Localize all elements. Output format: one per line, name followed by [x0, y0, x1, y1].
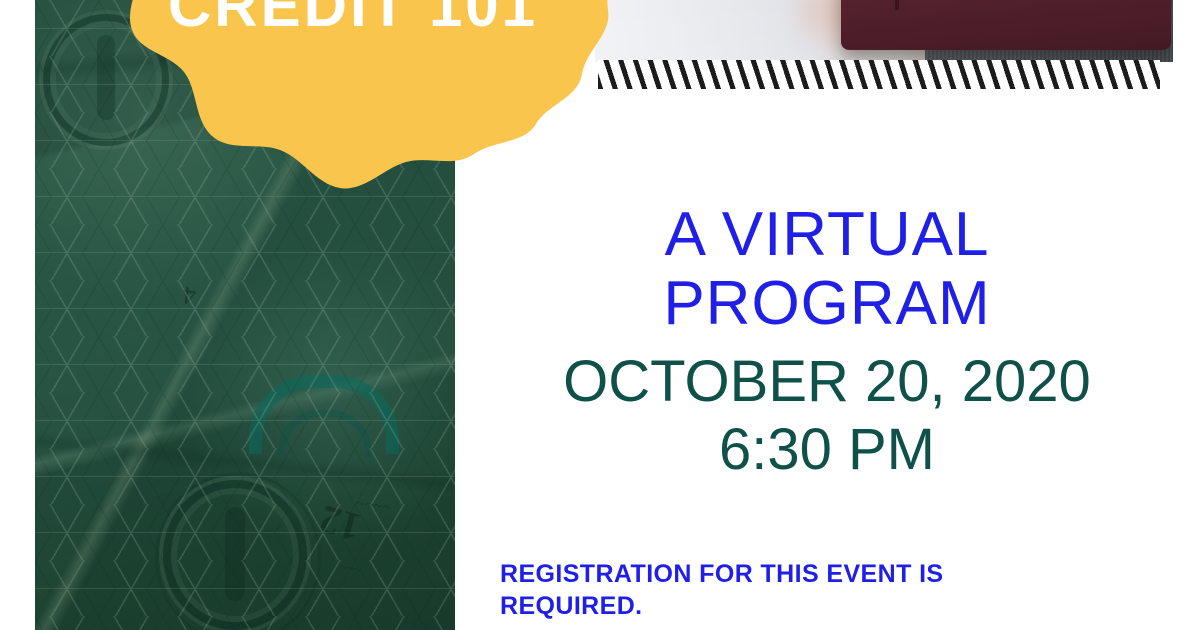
program-heading-line2: PROGRAM: [470, 269, 1184, 338]
text-content-column: A VIRTUAL PROGRAM OCTOBER 20, 2020 6:30 …: [470, 0, 1200, 630]
event-time: 6:30 PM: [470, 416, 1184, 484]
event-date: OCTOBER 20, 2020: [563, 349, 1091, 414]
program-heading-line1: A VIRTUAL: [665, 200, 990, 269]
poster-canvas: 4 12 ~~~~ ~~~ CREDIT 101 A VIRTUAL PROGR…: [0, 0, 1200, 630]
event-datetime: OCTOBER 20, 2020 6:30 PM: [470, 348, 1184, 485]
registration-note-line1: REGISTRATION FOR THIS EVENT IS: [500, 560, 944, 588]
registration-note-line2: REQUIRED.: [500, 592, 643, 620]
registration-note: REGISTRATION FOR THIS EVENT IS REQUIRED.: [500, 558, 1080, 622]
program-heading: A VIRTUAL PROGRAM: [470, 200, 1184, 339]
